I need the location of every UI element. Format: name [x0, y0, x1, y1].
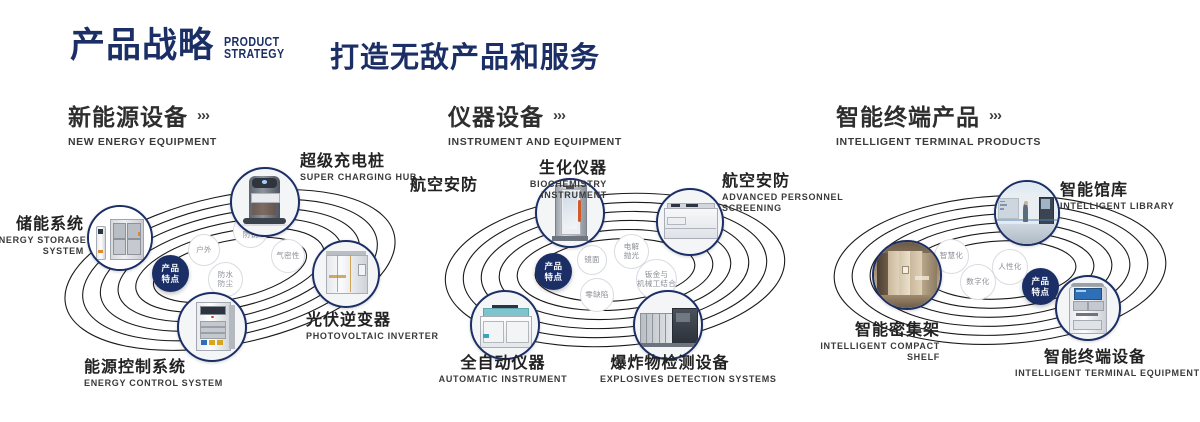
section-heading-instrument-en: INSTRUMENT AND EQUIPMENT	[448, 136, 622, 148]
section-heading-intelligent-terminal-cn-text: 智能终端产品	[836, 98, 980, 132]
node-intelligent-library[interactable]	[994, 180, 1060, 246]
feature-bubble-electropolishing-line2: 抛光	[624, 252, 640, 261]
feature-bubble-sheetmetal-machining-line2: 机械工结合	[637, 280, 676, 289]
node-label-cn: 储能系统	[0, 216, 84, 234]
core-bubble-product-features: 产品 特点	[535, 253, 572, 290]
node-label-en: EXPLOSIVES DETECTION SYSTEMS	[600, 374, 740, 385]
feature-bubble-smart-text: 智慧化	[940, 252, 963, 261]
section-heading-intelligent-terminal-cn: 智能终端产品 ›››	[836, 98, 1041, 132]
core-bubble-line1: 产品	[544, 261, 562, 271]
feature-bubble-digital: 数字化	[960, 264, 996, 300]
cluster-intelligent-terminal: 产品 特点 智慧化 数字化 人性化	[815, 160, 1185, 380]
node-label-intelligent-library: 智能馆库 INTELLIGENT LIBRARY	[1060, 182, 1174, 212]
section-heading-intelligent-terminal-en: INTELLIGENT TERMINAL PRODUCTS	[836, 136, 1041, 148]
node-automatic-instrument[interactable]	[470, 290, 540, 360]
node-label-en-line2: SHELF	[810, 352, 940, 363]
cluster-new-energy: 产品 特点 户外 防腐 防锈 防水 防尘 气密性	[40, 160, 420, 380]
section-heading-intelligent-terminal: 智能终端产品 ››› INTELLIGENT TERMINAL PRODUCTS	[836, 98, 1041, 148]
feature-bubble-zero-defect: 零缺陷	[580, 278, 614, 312]
core-bubble-product-features: 产品 特点	[152, 255, 189, 292]
feature-bubble-humanized: 人性化	[992, 249, 1028, 285]
page-title: 产品战略	[70, 28, 214, 63]
feature-bubble-zero-defect-text: 零缺陷	[585, 291, 608, 300]
feature-bubble-airtightness: 气密性	[271, 239, 305, 273]
section-heading-instrument: 仪器设备 ››› INSTRUMENT AND EQUIPMENT	[448, 98, 622, 148]
node-label-intelligent-terminal-equipment: 智能终端设备 INTELLIGENT TERMINAL EQUIPMENT	[1015, 349, 1175, 379]
feature-bubble-airtightness-text: 气密性	[276, 252, 299, 261]
node-label-cn: 全自动仪器	[437, 355, 569, 373]
node-label-en-line2: INSTRUMENT	[477, 190, 607, 201]
core-bubble-line2: 特点	[1031, 287, 1049, 297]
node-label-energy-storage-system: 储能系统 ENERGY STORAGE SYSTEM	[0, 216, 84, 257]
page-title-english-line2: STRATEGY	[224, 48, 285, 60]
node-label-cn: 光伏逆变器	[306, 312, 439, 330]
node-label-en: INTELLIGENT LIBRARY	[1060, 201, 1174, 212]
core-bubble-line1: 产品	[161, 263, 179, 273]
node-label-photovoltaic-inverter: 光伏逆变器 PHOTOVOLTAIC INVERTER	[306, 312, 439, 342]
core-bubble-product-features: 产品 特点	[1022, 268, 1059, 305]
node-advanced-personnel-screening[interactable]	[656, 188, 724, 256]
node-label-explosives-detection-systems: 爆炸物检测设备 EXPLOSIVES DETECTION SYSTEMS	[600, 355, 740, 385]
feature-bubble-outdoor: 户外	[188, 234, 220, 266]
node-explosives-detection-systems[interactable]	[633, 290, 703, 360]
section-heading-instrument-cn-text: 仪器设备	[448, 98, 544, 132]
node-label-cn: 智能馆库	[1060, 182, 1174, 200]
node-label-cn: 生化仪器	[477, 160, 607, 178]
side-label-aviation-security-cn: 航空安防	[410, 177, 478, 195]
section-heading-new-energy-en: NEW ENERGY EQUIPMENT	[68, 136, 217, 148]
node-super-charging-hub[interactable]	[230, 167, 300, 237]
node-label-intelligent-compact-shelf: 智能密集架 INTELLIGENT COMPACT SHELF	[810, 322, 940, 363]
page-title-english: PRODUCT STRATEGY	[224, 36, 285, 60]
node-label-cn: 智能终端设备	[1015, 349, 1175, 367]
chevron-right-icon: ›››	[553, 108, 565, 123]
side-label-aviation-security: 航空安防	[410, 177, 478, 195]
node-label-cn: 智能密集架	[810, 322, 940, 340]
node-label-en: SUPER CHARGING HUB	[300, 172, 417, 183]
node-energy-control-system[interactable]	[177, 292, 247, 362]
node-label-energy-control-system: 能源控制系统 ENERGY CONTROL SYSTEM	[84, 359, 223, 389]
node-label-en: ENERGY CONTROL SYSTEM	[84, 378, 223, 389]
node-label-biochemistry-instrument: 生化仪器 BIOCHEMISTRY INSTRUMENT	[477, 160, 607, 201]
section-heading-new-energy-cn: 新能源设备 ›››	[68, 98, 217, 132]
node-label-en: BIOCHEMISTRY INSTRUMENT	[477, 179, 607, 202]
page-slogan: 打造无敌产品和服务	[330, 34, 600, 76]
node-label-en-line2: SYSTEM	[0, 246, 84, 257]
node-label-en-line1: ENERGY STORAGE	[0, 235, 84, 246]
feature-bubble-waterproof-line2: 防尘	[218, 280, 234, 289]
node-label-en: AUTOMATIC INSTRUMENT	[437, 374, 569, 385]
node-intelligent-terminal-equipment[interactable]	[1055, 275, 1121, 341]
node-energy-storage-system[interactable]	[87, 205, 153, 271]
core-bubble-line2: 特点	[544, 272, 562, 282]
feature-bubble-outdoor-text: 户外	[196, 246, 212, 255]
section-heading-instrument-cn: 仪器设备 ›››	[448, 98, 622, 132]
product-strategy-infographic: 产品战略 PRODUCT STRATEGY 打造无敌产品和服务 新能源设备 ››…	[0, 0, 1200, 422]
node-photovoltaic-inverter[interactable]	[312, 240, 380, 308]
node-intelligent-compact-shelf[interactable]	[872, 240, 942, 310]
node-label-cn: 能源控制系统	[84, 359, 223, 377]
core-bubble-line1: 产品	[1031, 276, 1049, 286]
page-header: 产品战略 PRODUCT STRATEGY	[70, 28, 298, 63]
node-label-cn: 超级充电桩	[300, 153, 417, 171]
node-label-en: ENERGY STORAGE SYSTEM	[0, 235, 84, 258]
section-heading-new-energy-cn-text: 新能源设备	[68, 98, 188, 132]
chevron-right-icon: ›››	[197, 108, 209, 123]
feature-bubble-humanized-text: 人性化	[998, 263, 1021, 272]
node-label-en: INTELLIGENT COMPACT SHELF	[810, 341, 940, 364]
cluster-instrument: 产品 特点 镜面 电解 抛光 零缺陷 钣金与 机械工结合	[425, 160, 805, 380]
feature-bubble-digital-text: 数字化	[966, 278, 989, 287]
node-label-en-line1: BIOCHEMISTRY	[477, 179, 607, 190]
node-label-cn: 爆炸物检测设备	[600, 355, 740, 373]
core-bubble-line2: 特点	[161, 274, 179, 284]
node-label-automatic-instrument: 全自动仪器 AUTOMATIC INSTRUMENT	[437, 355, 569, 385]
feature-bubble-mirror-finish: 镜面	[577, 245, 607, 275]
feature-bubble-mirror-finish-text: 镜面	[584, 256, 600, 265]
chevron-right-icon: ›››	[989, 108, 1001, 123]
node-label-super-charging-hub: 超级充电桩 SUPER CHARGING HUB	[300, 153, 417, 183]
node-label-en-line1: INTELLIGENT COMPACT	[810, 341, 940, 352]
node-label-en: INTELLIGENT TERMINAL EQUIPMENT	[1015, 368, 1175, 379]
node-label-en: PHOTOVOLTAIC INVERTER	[306, 331, 439, 342]
section-heading-new-energy: 新能源设备 ››› NEW ENERGY EQUIPMENT	[68, 98, 217, 148]
